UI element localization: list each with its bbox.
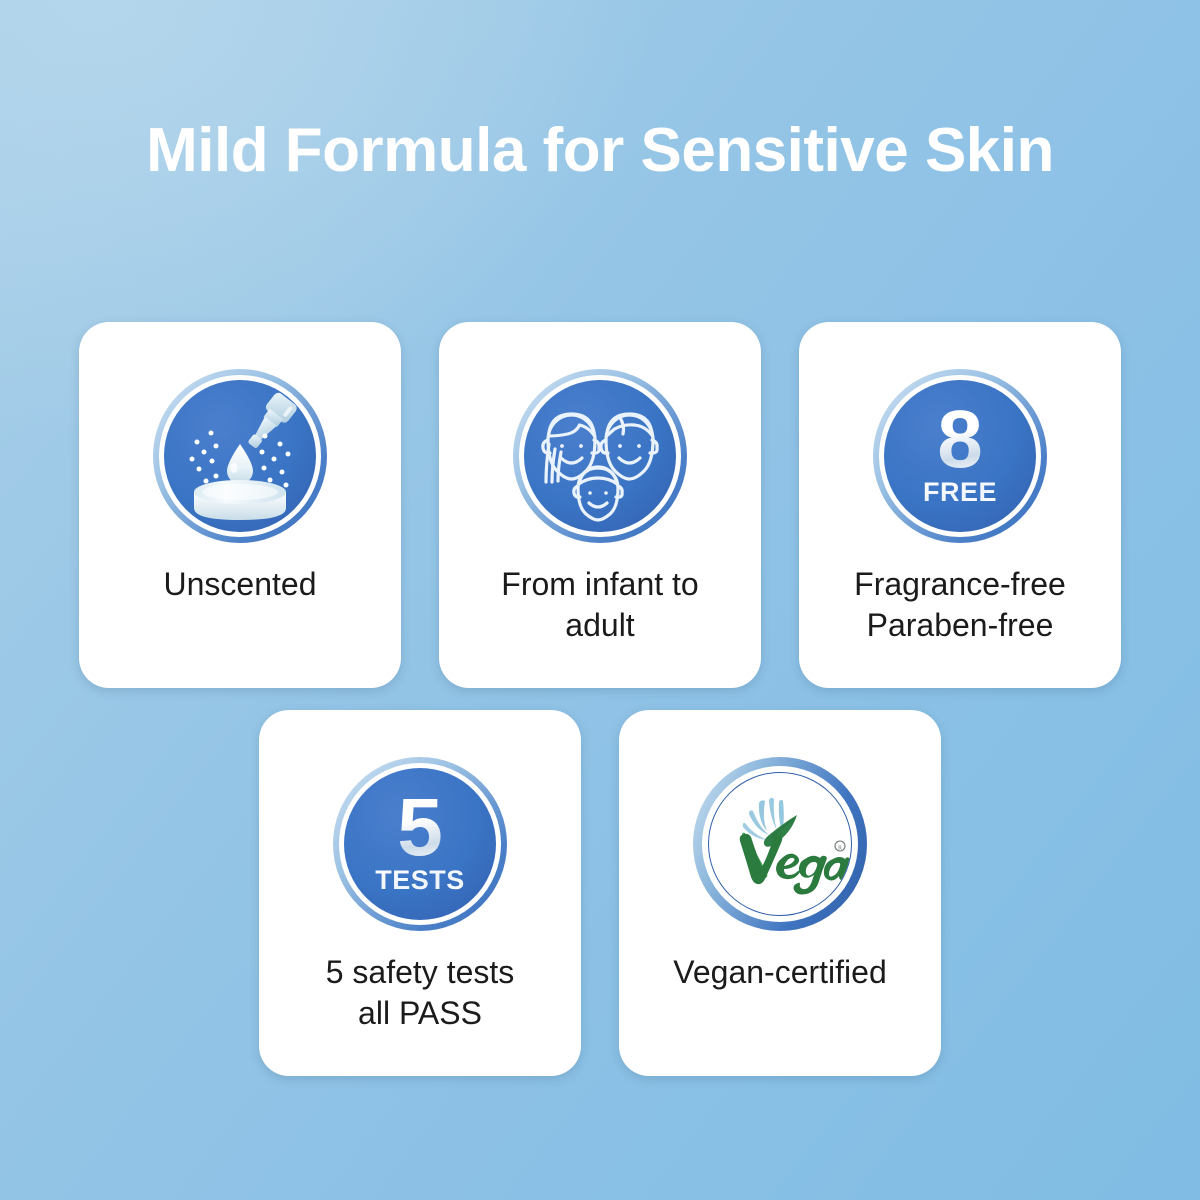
badge-slot: 8 FREE xyxy=(870,366,1050,546)
feature-card-five-safety-tests[interactable]: 5 TESTS 5 safety tests all PASS xyxy=(259,710,581,1076)
badge-text-stack: 8 FREE xyxy=(884,380,1036,532)
svg-text:R: R xyxy=(838,845,842,851)
dropper-petri-dish-icon xyxy=(153,369,327,543)
badge-subtext: FREE xyxy=(923,479,997,506)
feature-card-infant-to-adult[interactable]: From infant to adult xyxy=(439,322,761,688)
seal-artwork: R xyxy=(709,773,851,915)
feature-label: Vegan-certified xyxy=(635,952,925,993)
badge-slot xyxy=(150,366,330,546)
family-illustration xyxy=(524,380,676,532)
feature-label: Unscented xyxy=(95,564,385,605)
promo-infographic: Mild Formula for Sensitive Skin xyxy=(0,0,1200,1200)
badge-disc: 5 TESTS xyxy=(344,768,496,920)
vegan-certified-seal-icon: R xyxy=(693,757,867,931)
badge-text-stack: 5 TESTS xyxy=(344,768,496,920)
five-tests-badge-icon: 5 TESTS xyxy=(333,757,507,931)
dropper-illustration xyxy=(164,380,316,532)
feature-card-eight-free[interactable]: 8 FREE Fragrance-free Paraben-free xyxy=(799,322,1121,688)
badge-slot: R xyxy=(690,754,870,934)
feature-label: Fragrance-free Paraben-free xyxy=(815,564,1105,646)
page-title-container: Mild Formula for Sensitive Skin xyxy=(0,0,1200,300)
family-faces-icon xyxy=(513,369,687,543)
badge-number: 5 xyxy=(397,790,443,865)
badge-disc xyxy=(164,380,316,532)
feature-row-bottom: 5 TESTS 5 safety tests all PASS xyxy=(0,710,1200,1076)
badge-number: 8 xyxy=(937,402,983,477)
badge-slot xyxy=(510,366,690,546)
page-title: Mild Formula for Sensitive Skin xyxy=(146,115,1054,186)
badge-subtext: TESTS xyxy=(375,867,465,894)
badge-disc: 8 FREE xyxy=(884,380,1036,532)
badge-disc xyxy=(524,380,676,532)
eight-free-badge-icon: 8 FREE xyxy=(873,369,1047,543)
feature-card-unscented[interactable]: Unscented xyxy=(79,322,401,688)
vegan-logo-illustration: R xyxy=(709,773,851,915)
feature-row-top: Unscented xyxy=(0,322,1200,688)
feature-label: 5 safety tests all PASS xyxy=(275,952,565,1034)
feature-card-vegan-certified[interactable]: R Vegan-certified xyxy=(619,710,941,1076)
badge-slot: 5 TESTS xyxy=(330,754,510,934)
registered-trademark-mark: R xyxy=(835,841,845,851)
feature-label: From infant to adult xyxy=(455,564,745,646)
feature-grid: Unscented xyxy=(0,322,1200,1076)
